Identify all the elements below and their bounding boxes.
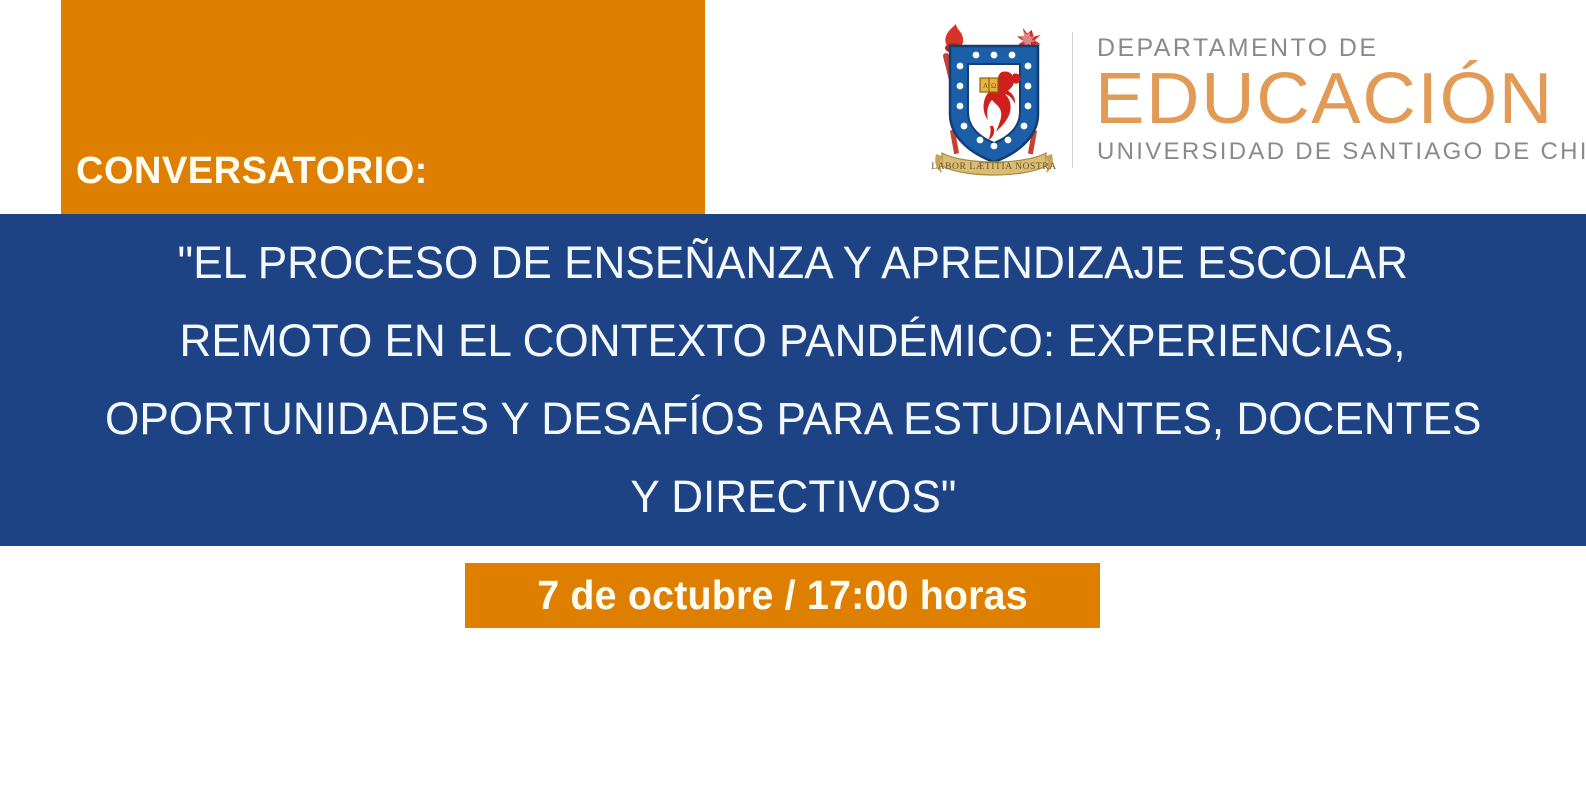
title-line-4: Y DIRECTIVOS": [630, 458, 956, 536]
logo-educacion-label: EDUCACIÓN: [1095, 63, 1586, 136]
date-time-label: 7 de octubre / 17:00 horas: [537, 572, 1028, 619]
title-line-2: REMOTO EN EL CONTEXTO PANDÉMICO: EXPERIE…: [180, 302, 1406, 380]
usach-department-logo: A Ω LABOR LÆTITIA NOSTRA DEPARTAMENTO DE…: [930, 20, 1550, 180]
bottom-blank-area: [0, 628, 1586, 789]
svg-text:A: A: [983, 82, 988, 90]
usach-coat-of-arms-icon: A Ω LABOR LÆTITIA NOSTRA: [930, 22, 1058, 178]
title-line-3: OPORTUNIDADES Y DESAFÍOS PARA ESTUDIANTE…: [105, 380, 1481, 458]
logo-university-label: UNIVERSIDAD DE SANTIAGO DE CHILE: [1097, 140, 1586, 164]
logo-text-block: DEPARTAMENTO DE EDUCACIÓN UNIVERSIDAD DE…: [1097, 28, 1586, 172]
kicker-label: CONVERSATORIO:: [76, 152, 636, 190]
date-time-badge: 7 de octubre / 17:00 horas: [465, 563, 1100, 628]
title-line-1: "EL PROCESO DE ENSEÑANZA Y APRENDIZAJE E…: [178, 224, 1408, 302]
svg-text:LABOR LÆTITIA NOSTRA: LABOR LÆTITIA NOSTRA: [931, 162, 1056, 172]
svg-text:Ω: Ω: [991, 82, 996, 90]
logo-department-label: DEPARTAMENTO DE: [1097, 36, 1586, 61]
logo-divider: [1072, 32, 1073, 168]
title-banner: "EL PROCESO DE ENSEÑANZA Y APRENDIZAJE E…: [0, 214, 1586, 546]
